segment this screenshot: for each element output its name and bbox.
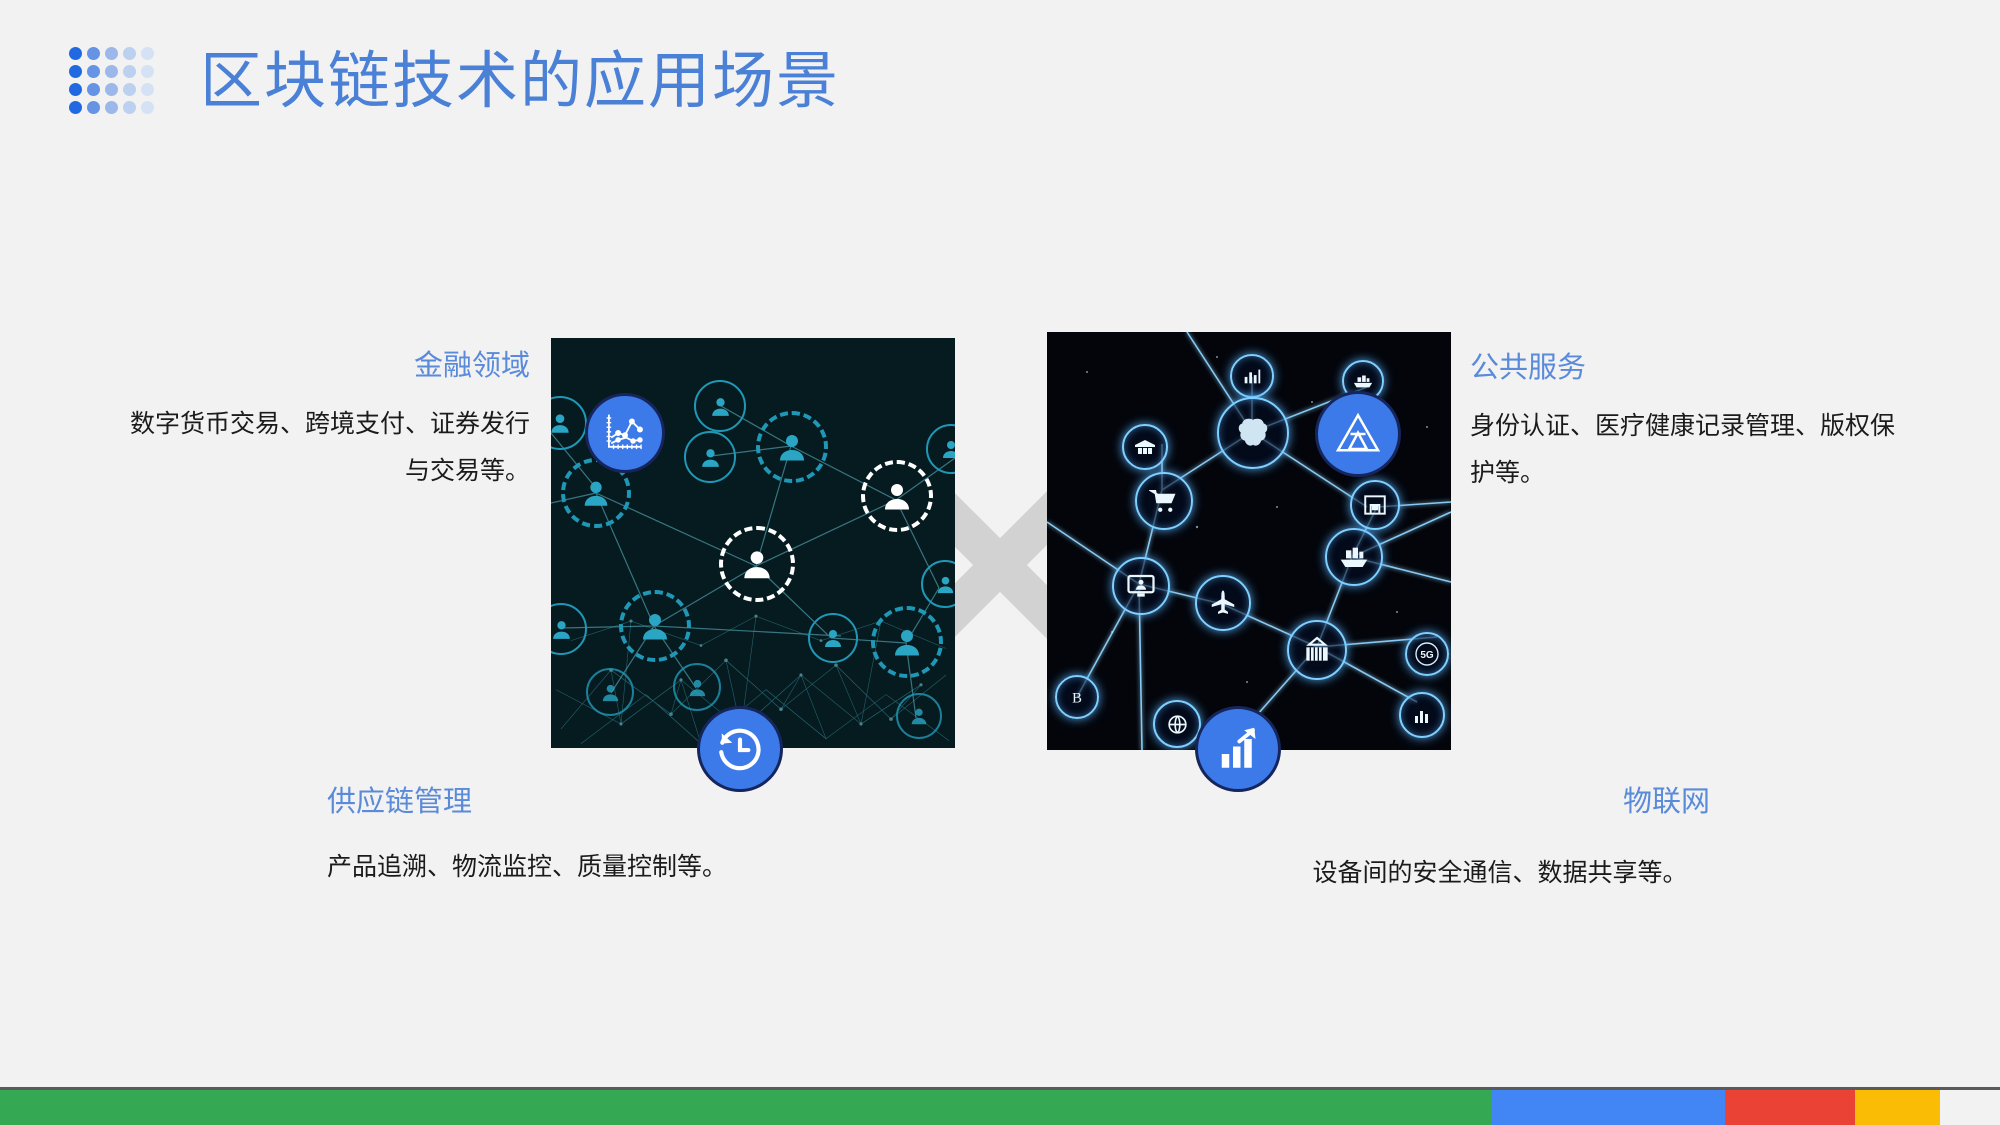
dot <box>123 83 136 96</box>
dot-grid-dot <box>120 98 138 116</box>
person-node <box>673 663 721 711</box>
nested-triangle-icon <box>1333 409 1383 459</box>
brain-icon <box>1234 414 1272 452</box>
shipping-container-node <box>1287 620 1347 680</box>
person-node <box>756 411 828 483</box>
airplane-node <box>1195 575 1251 631</box>
block-heading-public-service: 公共服务 <box>1470 350 1900 386</box>
dot <box>105 65 118 78</box>
dot-grid-dot <box>84 44 102 62</box>
dot <box>123 101 136 114</box>
block-heading-finance: 金融领域 <box>110 348 530 384</box>
dot-grid-dot <box>66 44 84 62</box>
person-node <box>808 613 858 663</box>
5g-node: 5G <box>1405 632 1449 676</box>
person-node-highlight <box>719 526 795 602</box>
dot-grid-dot <box>120 80 138 98</box>
dot <box>123 47 136 60</box>
bitcoin-icon: B <box>1066 686 1088 708</box>
dot <box>141 83 154 96</box>
dot-grid-dot <box>102 98 120 116</box>
bottom-color-bar <box>0 1087 2000 1125</box>
person-icon <box>686 676 709 699</box>
airplane-icon <box>1208 588 1238 618</box>
dot <box>141 47 154 60</box>
page-title: 区块链技术的应用场景 <box>200 46 840 118</box>
dot <box>141 65 154 78</box>
bitcoin-node: B <box>1055 675 1099 719</box>
cargo-ship-node <box>1325 528 1383 586</box>
text-block-iot: 物联网 设备间的安全通信、数据共享等。 <box>1290 784 1710 897</box>
empty-segment <box>1940 1090 2000 1125</box>
person-node-highlight <box>861 460 933 532</box>
person-icon <box>708 394 733 419</box>
bar-chart-node <box>1399 692 1445 738</box>
block-heading-iot: 物联网 <box>1290 784 1710 820</box>
bar-chart-icon <box>1410 703 1434 727</box>
history-clock-icon <box>715 724 765 774</box>
person-icon <box>738 545 776 583</box>
5g-icon: 5G <box>1412 639 1442 669</box>
person-icon <box>821 626 845 650</box>
shopping-cart-icon <box>1149 486 1179 516</box>
warehouse-node <box>1122 424 1168 470</box>
growth-bar-chart-icon <box>1213 724 1263 774</box>
shopping-cart-node <box>1135 472 1193 530</box>
dot-grid-decoration <box>66 44 156 116</box>
person-node <box>684 431 736 483</box>
person-icon <box>599 681 622 704</box>
dot <box>69 47 82 60</box>
person-icon <box>908 705 930 727</box>
dot <box>69 65 82 78</box>
chart-badge[interactable] <box>585 393 665 473</box>
line-chart-icon <box>602 410 648 456</box>
slide-header: 区块链技术的应用场景 <box>0 0 2000 180</box>
person-icon <box>889 624 925 660</box>
package-box-node <box>1350 480 1400 530</box>
dot-grid-dot <box>84 80 102 98</box>
image-right-iot-network: B 5G <box>1047 332 1451 750</box>
red-segment <box>1725 1090 1855 1125</box>
dot-grid-dot <box>102 62 120 80</box>
bar-chart-icon <box>1241 365 1263 387</box>
growth-badge[interactable] <box>1195 706 1281 792</box>
triangle-logo-badge[interactable] <box>1315 391 1401 477</box>
monitor-person-node <box>1112 557 1170 615</box>
person-icon <box>698 445 723 470</box>
globe-node <box>1153 700 1201 748</box>
blue-segment <box>1492 1090 1725 1125</box>
dot <box>87 101 100 114</box>
svg-text:5G: 5G <box>1420 650 1434 661</box>
monitor-person-icon <box>1126 571 1156 601</box>
cargo-ship-icon <box>1338 541 1370 573</box>
dot <box>69 83 82 96</box>
dot <box>87 47 100 60</box>
person-node <box>871 606 943 678</box>
dot-grid-dot <box>102 80 120 98</box>
block-body-iot: 设备间的安全通信、数据共享等。 <box>1290 850 1710 897</box>
person-node <box>619 590 691 662</box>
person-node <box>694 380 746 432</box>
person-icon <box>879 478 915 514</box>
dot-grid-dot <box>102 44 120 62</box>
yellow-segment <box>1855 1090 1940 1125</box>
dot-grid-dot <box>138 62 156 80</box>
dot-grid-dot <box>66 62 84 80</box>
person-icon <box>774 429 810 465</box>
person-icon <box>934 573 956 596</box>
dot-grid-dot <box>66 98 84 116</box>
dot-grid-dot <box>84 98 102 116</box>
dot-grid-dot <box>120 62 138 80</box>
dot-grid-dot <box>120 44 138 62</box>
person-icon <box>939 437 955 461</box>
globe-icon <box>1165 712 1190 737</box>
dot <box>105 47 118 60</box>
dot-grid-dot <box>138 44 156 62</box>
cargo-ship-icon <box>1352 370 1374 392</box>
person-icon <box>637 608 673 644</box>
dot-grid-dot <box>84 62 102 80</box>
person-icon <box>551 410 573 436</box>
dot <box>69 101 82 114</box>
person-node <box>586 668 634 716</box>
block-body-supply-chain: 产品追溯、物流监控、质量控制等。 <box>327 844 727 891</box>
right-network-canvas: B 5G <box>1047 332 1451 750</box>
dot <box>105 101 118 114</box>
block-body-public-service: 身份认证、医疗健康记录管理、版权保护等。 <box>1470 403 1900 497</box>
warehouse-icon <box>1133 435 1157 459</box>
dot <box>87 65 100 78</box>
person-icon <box>579 476 613 510</box>
text-block-supply-chain: 供应链管理 产品追溯、物流监控、质量控制等。 <box>327 784 727 891</box>
block-body-finance: 数字货币交易、跨境支付、证券发行与交易等。 <box>110 401 530 495</box>
dot-grid-dot <box>138 80 156 98</box>
svg-text:B: B <box>1072 691 1082 707</box>
text-block-public-service: 公共服务 身份认证、医疗健康记录管理、版权保护等。 <box>1470 350 1900 497</box>
dot <box>141 101 154 114</box>
package-box-icon <box>1362 492 1388 518</box>
dot <box>123 65 136 78</box>
history-badge[interactable] <box>697 706 783 792</box>
dot-grid-dot <box>138 98 156 116</box>
dot <box>105 83 118 96</box>
person-node <box>896 693 942 739</box>
dot-grid-dot <box>66 80 84 98</box>
dot <box>87 83 100 96</box>
green-segment <box>0 1090 1492 1125</box>
block-heading-supply-chain: 供应链管理 <box>327 784 727 820</box>
bar-chart-node <box>1230 354 1274 398</box>
person-icon <box>551 617 574 642</box>
text-block-finance: 金融领域 数字货币交易、跨境支付、证券发行与交易等。 <box>110 348 530 495</box>
shipping-container-icon <box>1301 634 1333 666</box>
brain-node <box>1217 397 1289 469</box>
